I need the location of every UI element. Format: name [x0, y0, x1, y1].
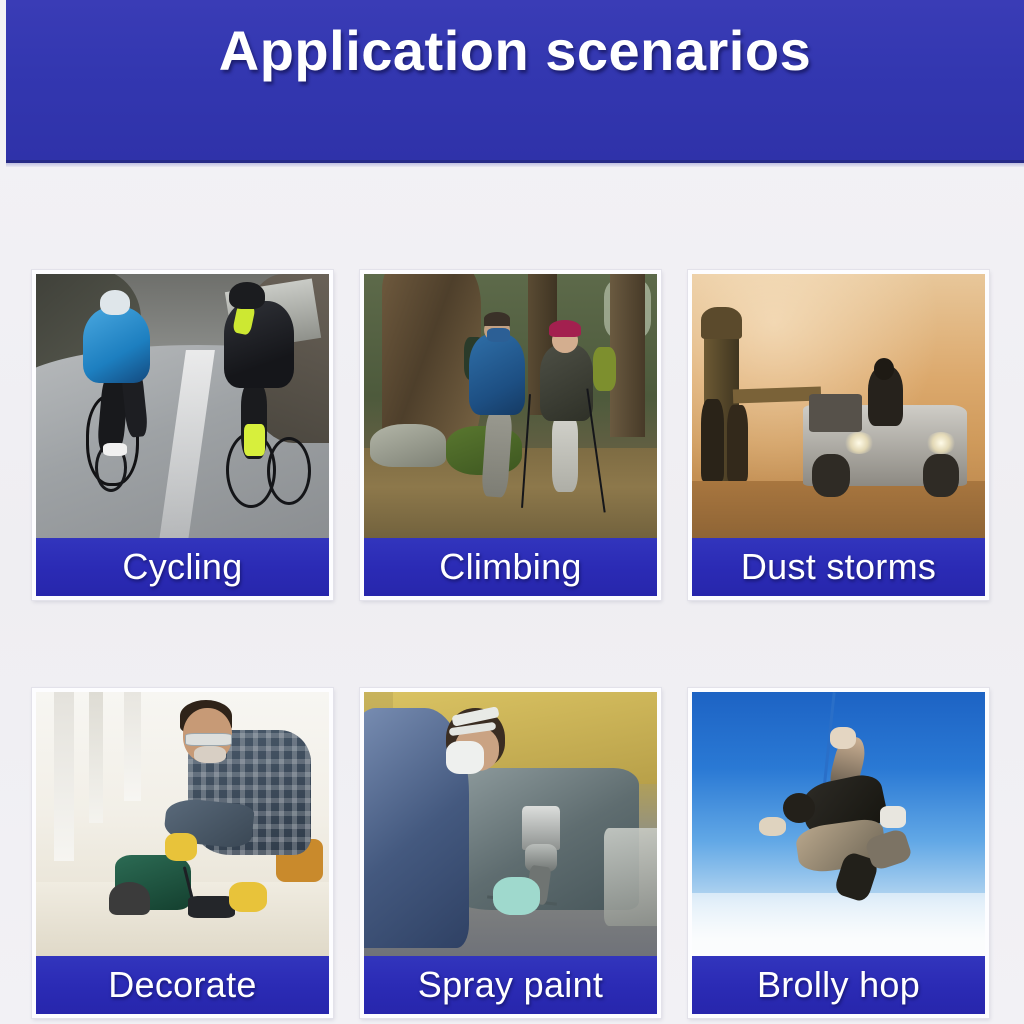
scenario-photo-cycling — [36, 274, 329, 546]
page-title: Application scenarios — [6, 18, 1024, 83]
scenario-photo-spray-paint — [364, 692, 657, 964]
scenario-label-spray-paint: Spray paint — [418, 964, 603, 1006]
scenario-card-dust-storms[interactable]: Dust storms — [688, 270, 989, 600]
scenario-label-cycling: Cycling — [122, 546, 242, 588]
scenario-label-dust-storms: Dust storms — [741, 546, 936, 588]
scenario-photo-climbing — [364, 274, 657, 546]
scenario-caption-bar: Dust storms — [692, 538, 985, 596]
page-header-banner: Application scenarios — [6, 0, 1024, 163]
scenario-photo-dust-storms — [692, 274, 985, 546]
header-underline — [6, 163, 1024, 167]
scenario-label-brolly-hop: Brolly hop — [757, 964, 920, 1006]
scenario-label-decorate: Decorate — [108, 964, 256, 1006]
scenario-card-cycling[interactable]: Cycling — [32, 270, 333, 600]
scenario-photo-brolly-hop — [692, 692, 985, 964]
scenario-photo-decorate — [36, 692, 329, 964]
scenario-card-spray-paint[interactable]: Spray paint — [360, 688, 661, 1018]
scenario-card-grid: Cycling — [32, 270, 990, 1018]
scenario-card-brolly-hop[interactable]: Brolly hop — [688, 688, 989, 1018]
scenario-caption-bar: Climbing — [364, 538, 657, 596]
scenario-card-climbing[interactable]: Climbing — [360, 270, 661, 600]
scenario-caption-bar: Spray paint — [364, 956, 657, 1014]
scenario-card-decorate[interactable]: Decorate — [32, 688, 333, 1018]
application-scenarios-page: Application scenarios — [0, 0, 1024, 1024]
scenario-caption-bar: Decorate — [36, 956, 329, 1014]
scenario-label-climbing: Climbing — [439, 546, 581, 588]
scenario-caption-bar: Cycling — [36, 538, 329, 596]
scenario-caption-bar: Brolly hop — [692, 956, 985, 1014]
